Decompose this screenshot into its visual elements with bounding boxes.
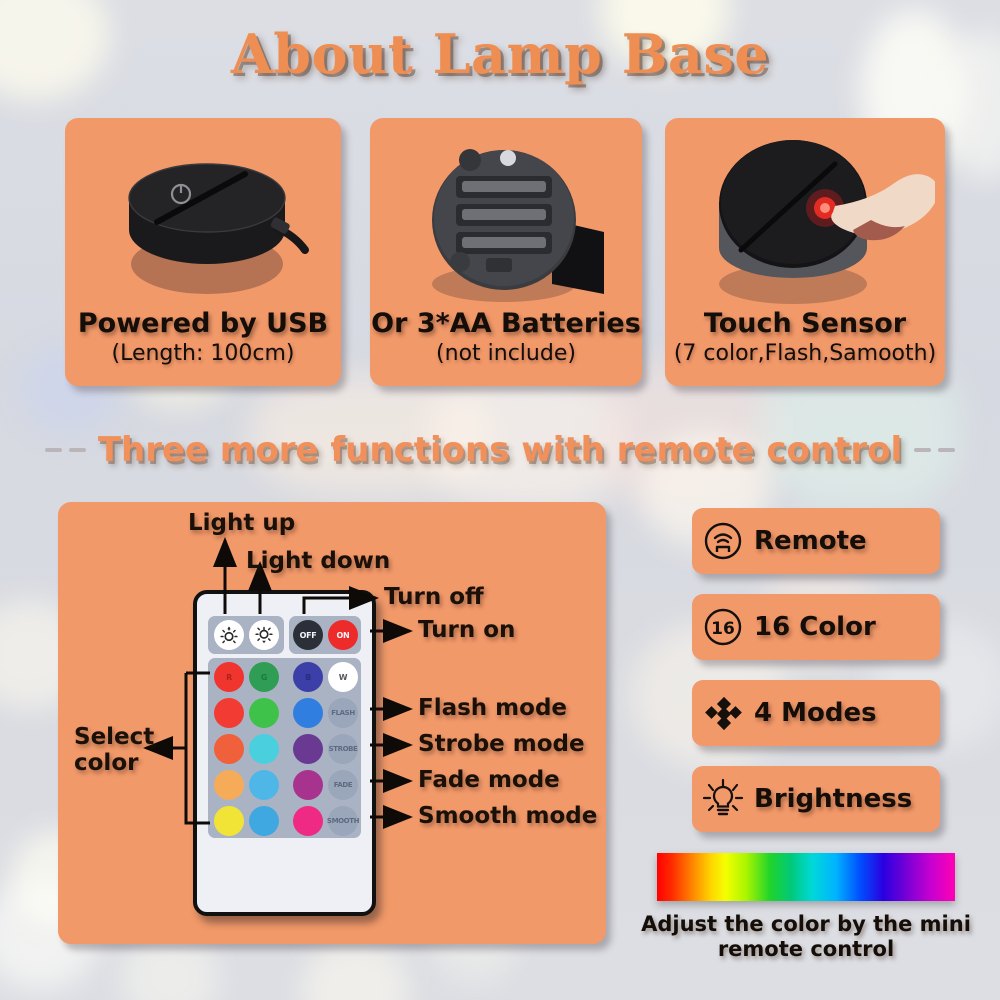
annotation-turn-off: Turn off <box>384 584 484 610</box>
color-button-r2c1[interactable] <box>214 698 244 728</box>
color-button-r4c2[interactable] <box>249 770 279 800</box>
annotation-light-up: Light up <box>188 510 295 536</box>
color-button-r2c2[interactable] <box>249 698 279 728</box>
annotation-flash-mode: Flash mode <box>418 695 567 721</box>
feature-card-usb: Powered by USB (Length: 100cm) <box>65 118 341 386</box>
feature-pill-remote-label: Remote <box>754 526 867 556</box>
color-button-r5c2[interactable] <box>249 806 279 836</box>
svg-text:16: 16 <box>711 619 735 639</box>
feature-card-touch: Touch Sensor (7 color,Flash,Samooth) <box>665 118 945 386</box>
remote-signal-icon <box>692 521 754 561</box>
brightness-down-icon <box>255 626 273 644</box>
color-button-r2c3[interactable] <box>293 698 323 728</box>
annotation-select-color-line1: Select <box>74 724 154 750</box>
annotation-turn-on: Turn on <box>418 617 515 643</box>
lamp-usb-image <box>95 136 315 306</box>
gradient-caption-line2: remote control <box>640 937 972 962</box>
brightness-up-icon <box>220 626 238 644</box>
color-button-r5c1[interactable] <box>214 806 244 836</box>
brightness-up-button[interactable] <box>214 620 244 650</box>
gradient-caption: Adjust the color by the mini remote cont… <box>640 912 972 962</box>
annotation-light-down: Light down <box>246 548 390 574</box>
dash-right-icon <box>914 448 955 452</box>
color-label-w: W <box>339 673 348 682</box>
color-button-r4c1[interactable] <box>214 770 244 800</box>
annotation-smooth-mode: Smooth mode <box>418 803 597 829</box>
color-label-b: B <box>305 673 311 682</box>
feature-pill-brightness-label: Brightness <box>754 784 912 814</box>
feature-card-batteries-caption: Or 3*AA Batteries (not include) <box>370 308 642 366</box>
infographic-page: About Lamp Base Powered by USB (Length: … <box>0 0 1000 1000</box>
color-button-r4c3[interactable] <box>293 770 323 800</box>
annotation-fade-mode: Fade mode <box>418 767 560 793</box>
power-off-button[interactable]: OFF <box>293 620 323 650</box>
lamp-touch-image <box>685 134 935 308</box>
color-button-r3c2[interactable] <box>249 734 279 764</box>
gradient-caption-line1: Adjust the color by the mini <box>640 912 972 937</box>
color-button-blue[interactable]: B <box>293 662 323 692</box>
color-button-r3c1[interactable] <box>214 734 244 764</box>
feature-pill-16-color-label: 16 Color <box>754 612 876 642</box>
page-title: About Lamp Base <box>0 22 1000 86</box>
strobe-mode-button[interactable]: STROBE <box>328 734 358 764</box>
sixteen-circle-icon: 16 <box>692 607 754 647</box>
annotation-select-color-line2: color <box>74 750 154 776</box>
fade-mode-button[interactable]: FADE <box>328 770 358 800</box>
feature-pill-brightness[interactable]: Brightness <box>692 766 940 832</box>
strobe-mode-label: STROBE <box>329 745 358 753</box>
color-button-green[interactable]: G <box>249 662 279 692</box>
fade-mode-label: FADE <box>334 781 352 789</box>
flash-mode-label: FLASH <box>331 709 355 717</box>
smooth-mode-label: SMOOTH <box>327 817 359 825</box>
remote-control[interactable]: OFF ON R G B W FLASH <box>193 590 376 916</box>
color-button-red[interactable]: R <box>214 662 244 692</box>
color-label-r: R <box>226 673 232 682</box>
feature-pill-16-color[interactable]: 16 16 Color <box>692 594 940 660</box>
annotation-select-color: Select color <box>74 724 154 777</box>
brightness-down-button[interactable] <box>249 620 279 650</box>
remote-panel-card: OFF ON R G B W FLASH <box>58 502 606 944</box>
section-heading-text: Three more functions with remote control <box>98 430 902 470</box>
feature-card-usb-caption: Powered by USB (Length: 100cm) <box>65 308 341 366</box>
feature-card-touch-caption: Touch Sensor (7 color,Flash,Samooth) <box>665 308 945 366</box>
flash-mode-button[interactable]: FLASH <box>328 698 358 728</box>
smooth-mode-button[interactable]: SMOOTH <box>328 806 358 836</box>
feature-pill-4-modes[interactable]: 4 Modes <box>692 680 940 746</box>
feature-card-batteries: Or 3*AA Batteries (not include) <box>370 118 642 386</box>
color-button-white[interactable]: W <box>328 662 358 692</box>
power-on-button[interactable]: ON <box>328 620 358 650</box>
power-on-label: ON <box>337 631 350 640</box>
color-button-r3c3[interactable] <box>293 734 323 764</box>
feature-pill-4-modes-label: 4 Modes <box>754 698 877 728</box>
bulb-rays-icon <box>692 777 754 821</box>
color-button-r5c3[interactable] <box>293 806 323 836</box>
lamp-battery-image <box>404 134 614 306</box>
annotation-strobe-mode: Strobe mode <box>418 731 585 757</box>
dash-left-icon <box>45 448 86 452</box>
four-diamonds-icon <box>692 693 754 733</box>
power-off-label: OFF <box>300 631 317 640</box>
feature-pill-remote[interactable]: Remote <box>692 508 940 574</box>
color-label-g: G <box>261 673 267 682</box>
section-heading: Three more functions with remote control <box>0 430 1000 470</box>
color-gradient-bar <box>657 853 955 901</box>
